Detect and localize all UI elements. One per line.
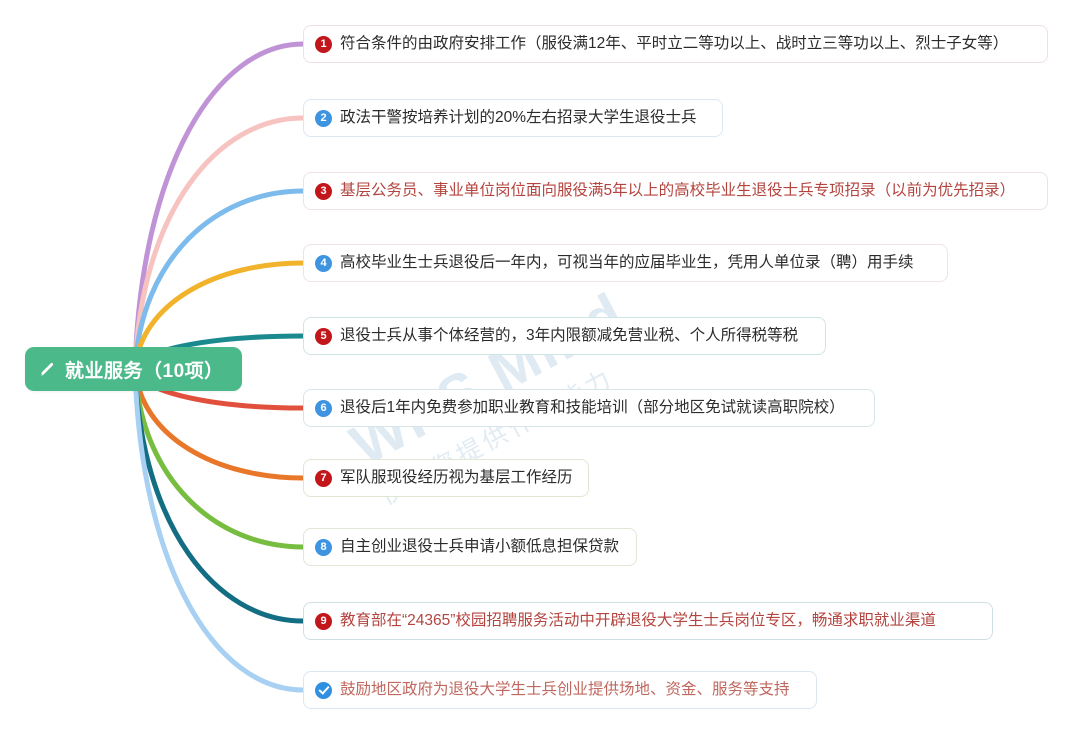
topic-node[interactable]: 2政法干警按培养计划的20%左右招录大学生退役士兵 xyxy=(303,99,723,137)
topic-node[interactable]: 6退役后1年内免费参加职业教育和技能培训（部分地区免试就读高职院校） xyxy=(303,389,875,427)
watermark: WPS Mind 仅为您提供作图能力 xyxy=(300,270,720,490)
topic-node[interactable]: 鼓励地区政府为退役大学生士兵创业提供场地、资金、服务等支持 xyxy=(303,671,817,709)
connector-line xyxy=(135,369,303,690)
topic-label: 鼓励地区政府为退役大学生士兵创业提供场地、资金、服务等支持 xyxy=(340,682,790,698)
topic-badge: 5 xyxy=(315,328,332,345)
topic-node[interactable]: 4高校毕业生士兵退役后一年内，可视当年的应届毕业生，凭用人单位录（聘）用手续 xyxy=(303,244,948,282)
topic-badge: 6 xyxy=(315,400,332,417)
connector-line xyxy=(135,44,303,369)
topic-node[interactable]: 3基层公务员、事业单位岗位面向服役满5年以上的高校毕业生退役士兵专项招录（以前为… xyxy=(303,172,1048,210)
topic-node[interactable]: 7军队服现役经历视为基层工作经历 xyxy=(303,459,589,497)
root-node-label: 就业服务（10项） xyxy=(65,356,224,383)
connector-line xyxy=(135,369,303,621)
connector-line xyxy=(135,191,303,369)
connector-line xyxy=(135,369,303,547)
topic-node[interactable]: 1符合条件的由政府安排工作（服役满12年、平时立二等功以上、战时立三等功以上、烈… xyxy=(303,25,1048,63)
topic-badge: 1 xyxy=(315,36,332,53)
topic-badge: 2 xyxy=(315,110,332,127)
topic-badge xyxy=(315,682,332,699)
topic-label: 基层公务员、事业单位岗位面向服役满5年以上的高校毕业生退役士兵专项招录（以前为优… xyxy=(340,183,1015,199)
root-node[interactable]: 就业服务（10项） xyxy=(25,347,242,391)
connector-line xyxy=(135,118,303,369)
topic-label: 符合条件的由政府安排工作（服役满12年、平时立二等功以上、战时立三等功以上、烈士… xyxy=(340,36,1008,52)
pencil-icon xyxy=(39,361,56,378)
topic-badge: 3 xyxy=(315,183,332,200)
topic-badge: 7 xyxy=(315,470,332,487)
topic-label: 军队服现役经历视为基层工作经历 xyxy=(340,470,573,486)
topic-label: 政法干警按培养计划的20%左右招录大学生退役士兵 xyxy=(340,110,697,126)
topic-badge: 9 xyxy=(315,613,332,630)
topic-node[interactable]: 5退役士兵从事个体经营的，3年内限额减免营业税、个人所得税等税 xyxy=(303,317,826,355)
mindmap-canvas: WPS Mind 仅为您提供作图能力 就业服务（10项） 1符合条件的由政府安排… xyxy=(0,0,1080,737)
topic-label: 高校毕业生士兵退役后一年内，可视当年的应届毕业生，凭用人单位录（聘）用手续 xyxy=(340,255,914,271)
topic-label: 退役后1年内免费参加职业教育和技能培训（部分地区免试就读高职院校） xyxy=(340,400,845,416)
watermark-main-text: WPS Mind xyxy=(340,279,636,479)
topic-node[interactable]: 9教育部在“24365”校园招聘服务活动中开辟退役大学生士兵岗位专区，畅通求职就… xyxy=(303,602,993,640)
topic-label: 自主创业退役士兵申请小额低息担保贷款 xyxy=(340,539,619,555)
topic-label: 教育部在“24365”校园招聘服务活动中开辟退役大学生士兵岗位专区，畅通求职就业… xyxy=(340,613,936,629)
topic-badge: 4 xyxy=(315,255,332,272)
topic-node[interactable]: 8自主创业退役士兵申请小额低息担保贷款 xyxy=(303,528,637,566)
topic-label: 退役士兵从事个体经营的，3年内限额减免营业税、个人所得税等税 xyxy=(340,328,798,344)
topic-badge: 8 xyxy=(315,539,332,556)
